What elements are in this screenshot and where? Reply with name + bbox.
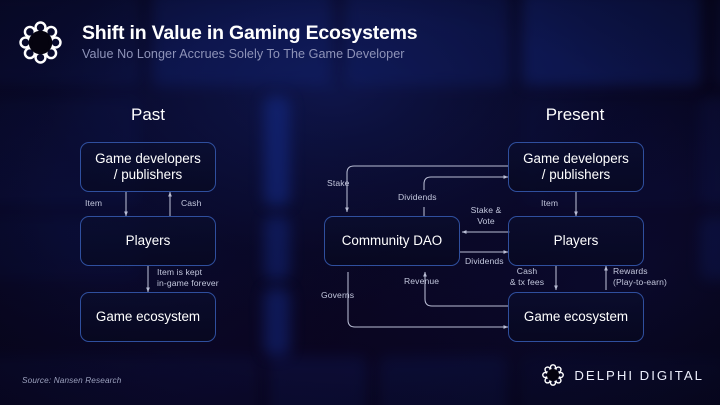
slide-canvas: Shift in Value in Gaming Ecosystems Valu… xyxy=(0,0,720,405)
edge-label-line1: Cash xyxy=(517,266,537,276)
edge-label-past-cash: Cash xyxy=(181,198,201,209)
source-note: Source: Nansen Research xyxy=(22,376,121,385)
node-label: Game developers / publishers xyxy=(95,151,201,184)
edge-label-line1: Rewards xyxy=(613,266,648,276)
edge-label-present-governs: Governs xyxy=(321,290,354,301)
edge-label-line1: Item is kept xyxy=(157,267,202,277)
node-present-players[interactable]: Players xyxy=(508,216,644,266)
edge-label-line2: (Play-to-earn) xyxy=(613,277,667,287)
node-label-line1: Game developers xyxy=(523,151,629,166)
edge-label-present-item: Item xyxy=(541,198,558,209)
node-present-community-dao[interactable]: Community DAO xyxy=(324,216,460,266)
edge-label-line2: Vote xyxy=(477,216,495,226)
node-label-line2: / publishers xyxy=(542,167,610,182)
edge-label-past-item-kept: Item is kept in-game forever xyxy=(157,267,219,289)
node-past-players[interactable]: Players xyxy=(80,216,216,266)
node-label: Game ecosystem xyxy=(524,309,628,325)
edge-label-line2: & tx fees xyxy=(510,277,544,287)
edge-label-line1: Stake & xyxy=(471,205,502,215)
node-past-ecosystem[interactable]: Game ecosystem xyxy=(80,292,216,342)
node-present-developers[interactable]: Game developers / publishers xyxy=(508,142,644,192)
node-label-line1: Game developers xyxy=(95,151,201,166)
node-past-developers[interactable]: Game developers / publishers xyxy=(80,142,216,192)
edge-present-dividends-dev-upper xyxy=(424,177,508,190)
node-label: Game developers / publishers xyxy=(523,151,629,184)
brand-lockup: DELPHI DIGITAL xyxy=(541,362,704,388)
node-label-line2: / publishers xyxy=(114,167,182,182)
brand-name: DELPHI DIGITAL xyxy=(574,368,704,383)
edge-label-present-revenue: Revenue xyxy=(404,276,439,287)
edge-label-present-rewards: Rewards (Play-to-earn) xyxy=(613,266,667,288)
connector-layer xyxy=(0,0,720,405)
node-label: Community DAO xyxy=(342,233,442,249)
edge-label-present-cash-tx-fees: Cash & tx fees xyxy=(504,266,550,288)
delphi-ring-icon xyxy=(541,363,565,387)
edge-label-present-dividends-players: Dividends xyxy=(465,256,504,267)
edge-label-present-stake: Stake xyxy=(327,178,349,189)
node-present-ecosystem[interactable]: Game ecosystem xyxy=(508,292,644,342)
edge-label-present-stake-vote: Stake & Vote xyxy=(464,205,508,227)
edge-label-line2: in-game forever xyxy=(157,278,219,288)
node-label: Game ecosystem xyxy=(96,309,200,325)
edge-label-past-item: Item xyxy=(85,198,102,209)
node-label: Players xyxy=(126,233,171,249)
edge-label-present-dividends-dev: Dividends xyxy=(398,192,437,203)
node-label: Players xyxy=(554,233,599,249)
